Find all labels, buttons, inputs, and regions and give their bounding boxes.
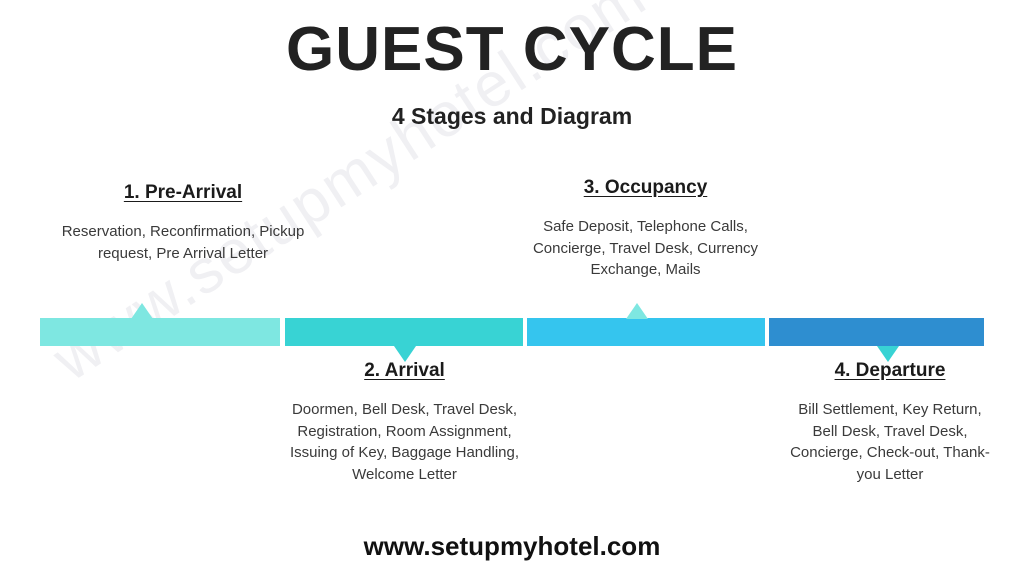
timeline-bar — [40, 318, 984, 346]
timeline-segment-arrival[interactable] — [285, 318, 523, 346]
timeline-segment-pre-arrival[interactable] — [40, 318, 280, 346]
footer-url: www.setupmyhotel.com — [0, 531, 1024, 562]
page-title: GUEST CYCLE — [0, 14, 1024, 85]
stage-body-arrival: Doormen, Bell Desk, Travel Desk, Registr… — [282, 399, 527, 486]
stage-body-occupancy: Safe Deposit, Telephone Calls, Concierge… — [524, 216, 767, 281]
stage-heading-pre-arrival: 1. Pre-Arrival — [58, 182, 308, 205]
stage-body-departure: Bill Settlement, Key Return, Bell Desk, … — [786, 399, 994, 486]
stage-block-departure: 4. Departure Bill Settlement, Key Return… — [786, 360, 994, 486]
infographic-canvas: www.setupmyhotel.com GUEST CYCLE 4 Stage… — [0, 0, 1024, 576]
timeline-segment-departure[interactable] — [769, 318, 984, 346]
watermark: www.setupmyhotel.com — [0, 0, 1024, 576]
stage-heading-departure: 4. Departure — [786, 360, 994, 383]
stage-block-pre-arrival: 1. Pre-Arrival Reservation, Reconfirmati… — [58, 182, 308, 264]
stage-heading-occupancy: 3. Occupancy — [524, 177, 767, 200]
stage-body-pre-arrival: Reservation, Reconfirmation, Pickup requ… — [58, 221, 308, 265]
stage-heading-arrival: 2. Arrival — [282, 360, 527, 383]
stage-block-occupancy: 3. Occupancy Safe Deposit, Telephone Cal… — [524, 177, 767, 281]
stage-block-arrival: 2. Arrival Doormen, Bell Desk, Travel De… — [282, 360, 527, 486]
up-arrow-icon-pre-arrival — [131, 303, 153, 319]
page-subtitle: 4 Stages and Diagram — [0, 103, 1024, 130]
timeline-segment-occupancy[interactable] — [527, 318, 765, 346]
up-arrow-icon-occupancy — [626, 303, 648, 319]
